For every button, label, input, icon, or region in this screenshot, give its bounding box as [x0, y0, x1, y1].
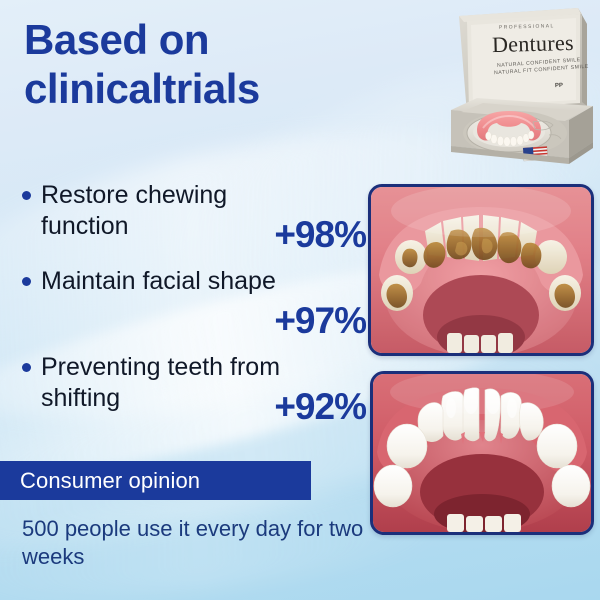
benefit-item: Maintain facial shape +97% — [18, 266, 368, 338]
footnote-text: 500 people use it every day for two week… — [22, 515, 372, 571]
benefit-label: Restore chewing function — [41, 180, 291, 241]
bullet-dot-icon — [22, 363, 31, 372]
headline-line-1: Based on — [24, 16, 364, 65]
before-photo-graphic — [371, 187, 591, 353]
box-mark-text: PP — [555, 83, 563, 89]
benefit-percent: +92% — [274, 386, 366, 428]
headline-line-2: clinicaltrials — [24, 65, 364, 114]
benefit-item: Preventing teeth from shifting +92% — [18, 352, 368, 424]
benefit-label: Maintain facial shape — [41, 266, 291, 297]
benefit-percent: +97% — [274, 300, 366, 342]
benefit-item: Restore chewing function +98% — [18, 180, 368, 252]
benefits-list: Restore chewing function +98% Maintain f… — [18, 180, 368, 438]
after-photo-graphic — [373, 374, 591, 532]
after-photo-clean-teeth — [370, 371, 594, 535]
product-box-image: PROFESSIONAL Dentures NATURAL CONFIDENT … — [437, 2, 597, 174]
consumer-opinion-label: Consumer opinion — [0, 468, 200, 494]
bullet-dot-icon — [22, 191, 31, 200]
headline: Based on clinicaltrials — [24, 16, 364, 113]
consumer-opinion-band: Consumer opinion — [0, 461, 311, 500]
box-title-text: Dentures — [492, 30, 574, 58]
before-photo-stained-teeth — [368, 184, 594, 356]
bullet-dot-icon — [22, 277, 31, 286]
benefit-percent: +98% — [274, 214, 366, 256]
benefit-label: Preventing teeth from shifting — [41, 352, 291, 413]
advertisement-creative: Based on clinicaltrials Restore chewing … — [0, 0, 600, 600]
